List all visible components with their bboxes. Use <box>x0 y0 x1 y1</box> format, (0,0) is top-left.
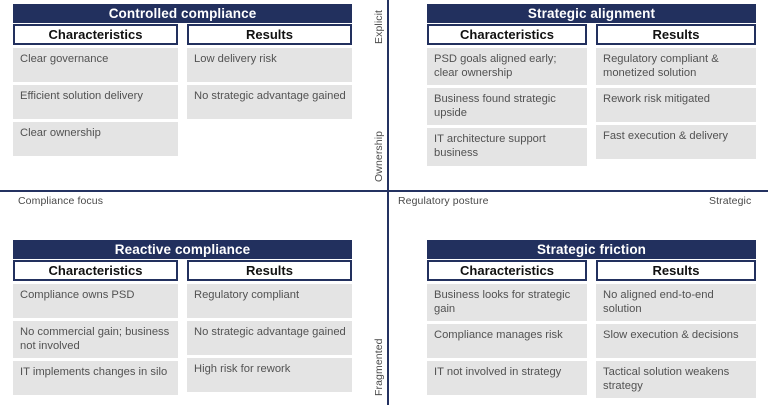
axis-label-regulatory-posture: Regulatory posture <box>398 195 489 207</box>
result-item: No strategic advantage gained <box>187 85 352 119</box>
results-column: Results Regulatory compliant No strategi… <box>187 260 352 395</box>
quadrant-columns: Characteristics Clear governance Efficie… <box>13 24 352 156</box>
characteristic-item: Business looks for strategic gain <box>427 284 587 321</box>
characteristic-item: PSD goals aligned early; clear ownership <box>427 48 587 85</box>
quadrant-bottom-left: Reactive compliance Characteristics Comp… <box>13 240 352 395</box>
results-column: Results No aligned end-to-end solution S… <box>596 260 756 398</box>
column-header-characteristics: Characteristics <box>13 260 178 281</box>
characteristic-item: Compliance owns PSD <box>13 284 178 318</box>
characteristics-column: Characteristics PSD goals aligned early;… <box>427 24 587 166</box>
characteristics-column: Characteristics Business looks for strat… <box>427 260 587 398</box>
result-item: Tactical solution weakens strategy <box>596 361 756 398</box>
result-item: Low delivery risk <box>187 48 352 82</box>
vertical-axis-line <box>387 0 389 405</box>
column-header-results: Results <box>596 260 756 281</box>
column-header-characteristics: Characteristics <box>427 24 587 45</box>
two-by-two-matrix: Explicit Ownership Fragmented Compliance… <box>0 0 768 405</box>
result-item: No strategic advantage gained <box>187 321 352 355</box>
result-item: High risk for rework <box>187 358 352 392</box>
characteristic-item: Efficient solution delivery <box>13 85 178 119</box>
results-column: Results Regulatory compliant & monetized… <box>596 24 756 166</box>
column-header-characteristics: Characteristics <box>13 24 178 45</box>
characteristic-item: IT architecture support business <box>427 128 587 165</box>
axis-label-fragmented: Fragmented <box>373 338 385 396</box>
axis-label-explicit: Explicit <box>373 10 385 44</box>
quadrant-columns: Characteristics Business looks for strat… <box>427 260 756 398</box>
characteristics-column: Characteristics Clear governance Efficie… <box>13 24 178 156</box>
axis-label-ownership: Ownership <box>373 131 385 182</box>
quadrant-top-left: Controlled compliance Characteristics Cl… <box>13 4 352 156</box>
empty-cell-spacer <box>187 122 352 156</box>
column-header-results: Results <box>187 24 352 45</box>
quadrant-columns: Characteristics PSD goals aligned early;… <box>427 24 756 166</box>
quadrant-top-right: Strategic alignment Characteristics PSD … <box>427 4 756 166</box>
quadrant-title: Strategic friction <box>427 240 756 259</box>
quadrant-title: Reactive compliance <box>13 240 352 259</box>
axis-label-strategic: Strategic <box>709 195 751 207</box>
characteristic-item: Clear governance <box>13 48 178 82</box>
characteristic-item: Compliance manages risk <box>427 324 587 358</box>
column-header-results: Results <box>596 24 756 45</box>
characteristic-item: Clear ownership <box>13 122 178 156</box>
characteristic-item: IT not involved in strategy <box>427 361 587 395</box>
result-item: Slow execution & decisions <box>596 324 756 358</box>
quadrant-bottom-right: Strategic friction Characteristics Busin… <box>427 240 756 398</box>
quadrant-title: Controlled compliance <box>13 4 352 23</box>
result-item: Regulatory compliant & monetized solutio… <box>596 48 756 85</box>
axis-label-compliance-focus: Compliance focus <box>18 195 103 207</box>
result-item: Rework risk mitigated <box>596 88 756 122</box>
quadrant-title: Strategic alignment <box>427 4 756 23</box>
result-item: Fast execution & delivery <box>596 125 756 159</box>
result-item: Regulatory compliant <box>187 284 352 318</box>
results-column: Results Low delivery risk No strategic a… <box>187 24 352 156</box>
result-item: No aligned end-to-end solution <box>596 284 756 321</box>
column-header-characteristics: Characteristics <box>427 260 587 281</box>
quadrant-columns: Characteristics Compliance owns PSD No c… <box>13 260 352 395</box>
column-header-results: Results <box>187 260 352 281</box>
characteristic-item: No commercial gain; business not involve… <box>13 321 178 358</box>
horizontal-axis-line <box>0 190 768 192</box>
characteristics-column: Characteristics Compliance owns PSD No c… <box>13 260 178 395</box>
characteristic-item: IT implements changes in silo <box>13 361 178 395</box>
characteristic-item: Business found strategic upside <box>427 88 587 125</box>
